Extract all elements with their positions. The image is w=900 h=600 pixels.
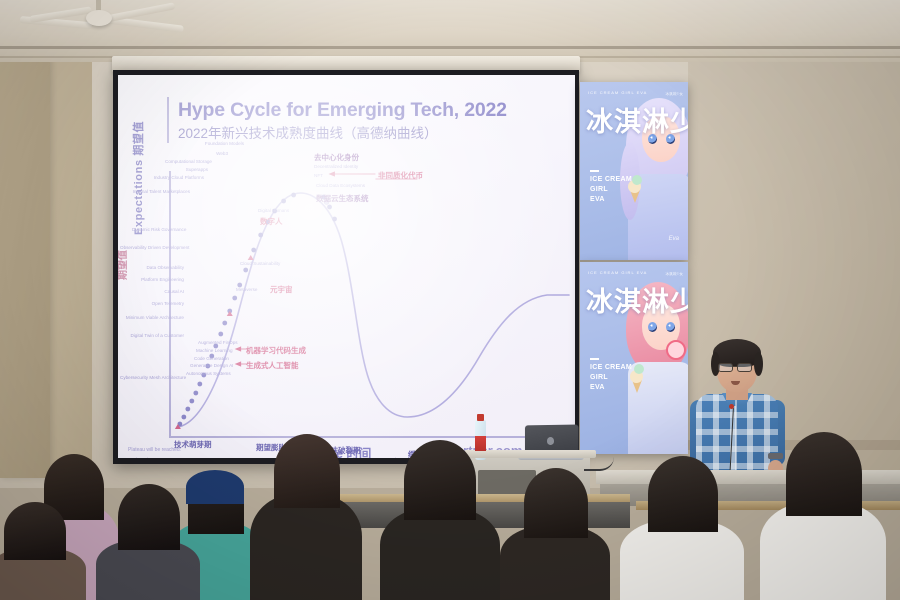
legend-label-en: less than 2 years	[136, 457, 171, 458]
poster-title-cn: 冰淇淋少女	[586, 100, 688, 139]
poster-tagline: ICE CREAM GIRL EVA	[588, 270, 647, 275]
audience-member-head	[648, 456, 718, 532]
poster-tagline: ICE CREAM GIRL EVA	[588, 90, 647, 95]
character-eye	[666, 322, 675, 332]
baseball-cap-icon	[186, 470, 244, 504]
projection-screen: Hype Cycle for Emerging Tech, 2022 2022年…	[113, 70, 579, 464]
legend-label-en: 2 to 5 years	[218, 457, 242, 458]
audience-member-body	[380, 508, 500, 600]
audience-member-head	[786, 432, 862, 516]
poster-ice-cream-girl-blue: ICE CREAM GIRL EVA 冰淇淋少女 ICE CREAM GIRL …	[580, 82, 688, 260]
lectern-top	[464, 450, 596, 458]
poster-side-text: 冰淇淋少女	[666, 272, 684, 277]
audience-member-head	[4, 502, 66, 560]
eyeglasses-bridge	[733, 366, 737, 367]
ice-cream-scoop	[632, 175, 642, 185]
ceiling-seam	[0, 46, 900, 49]
poster-divider	[590, 170, 599, 172]
headphones-icon	[666, 340, 686, 360]
audience-member-head	[404, 440, 476, 520]
ceiling-fan-icon	[86, 10, 112, 26]
annotation-arrows	[118, 75, 575, 458]
eyeglasses-icon	[718, 363, 733, 372]
bottle-cap	[477, 414, 484, 421]
ice-cream-scoop	[634, 364, 644, 374]
poster-side-text: 冰淇淋少女	[666, 92, 684, 97]
legend-title: Plateau will be reached:	[128, 447, 181, 453]
poster-signature: Eva	[669, 236, 679, 242]
audience-member-body	[250, 494, 362, 600]
character-eye	[648, 322, 657, 332]
audience-member-head	[274, 434, 340, 508]
wall-pillar	[0, 58, 50, 478]
slide-surface: Hype Cycle for Emerging Tech, 2022 2022年…	[118, 75, 575, 458]
audience-member-body	[760, 502, 886, 600]
poster-title-en: ICE CREAM GIRL EVA	[590, 363, 632, 393]
poster-ice-cream-girl-red: ICE CREAM GIRL EVA 冰淇淋少女 ICE CREAM GIRL …	[580, 262, 688, 454]
poster-title-en: ICE CREAM GIRL EVA	[590, 175, 632, 205]
poster-divider	[590, 358, 599, 360]
presenter-hair-side	[754, 352, 763, 376]
lapel-microphone-icon	[729, 404, 734, 409]
lecture-hall-scene: Hype Cycle for Emerging Tech, 2022 2022年…	[0, 0, 900, 600]
laptop-logo-icon	[547, 437, 554, 445]
presenter-shirt-placket	[735, 400, 737, 478]
wristwatch-icon	[768, 453, 783, 459]
eyeglasses-icon	[737, 363, 752, 372]
audience-member-body	[620, 520, 744, 600]
audience-member-head	[118, 484, 180, 550]
audience-member-head	[524, 468, 588, 538]
bottle-label	[475, 436, 486, 451]
poster-title-cn: 冰淇淋少女	[586, 280, 688, 319]
